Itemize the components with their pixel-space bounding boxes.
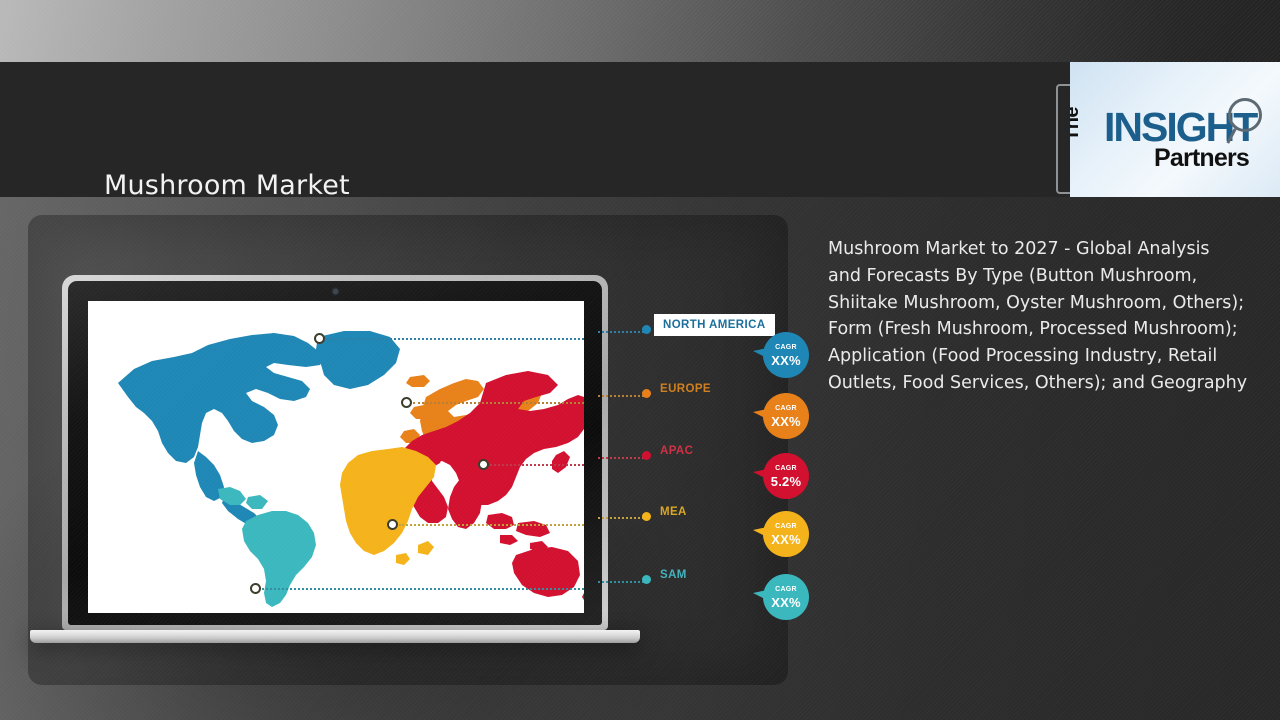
page-title: Mushroom Market (104, 172, 350, 199)
cagr-pin-value-europe: XX% (771, 415, 801, 428)
legend-row-sam[interactable]: SAM (640, 567, 840, 591)
map-marker-europe[interactable] (401, 397, 412, 408)
cagr-pin-text-europe: CAGR XX% (763, 393, 809, 439)
connector-line-apac (490, 464, 584, 466)
cagr-pin-metric-label-mea: CAGR (775, 523, 797, 530)
cagr-pin-sam[interactable]: CAGR XX% (753, 574, 809, 626)
cagr-pin-metric-label-north-america: CAGR (775, 344, 797, 351)
cagr-pin-text-mea: CAGR XX% (763, 511, 809, 557)
legend-bullet-sam (642, 575, 651, 584)
brand-logo[interactable]: The INSIGHT Partners (1070, 62, 1280, 202)
map-marker-sam[interactable] (250, 583, 261, 594)
logo-partners-text: Partners (1154, 144, 1249, 173)
legend-row-mea[interactable]: MEA (640, 504, 840, 528)
cagr-pin-mea[interactable]: CAGR XX% (753, 511, 809, 563)
cagr-pin-value-apac: 5.2% (771, 475, 801, 488)
cagr-pin-north-america[interactable]: CAGR XX% (753, 332, 809, 384)
legend-label-europe: EUROPE (660, 383, 711, 395)
world-map (88, 301, 584, 613)
cagr-pin-value-mea: XX% (771, 533, 801, 546)
cagr-pin-metric-label-sam: CAGR (775, 586, 797, 593)
legend-label-apac: APAC (660, 445, 693, 457)
laptop-mockup (62, 275, 612, 637)
laptop-bezel (68, 281, 602, 625)
laptop-lid (62, 275, 608, 630)
connector-line-sam (262, 588, 584, 590)
brand-logo-inner: The INSIGHT Partners (1082, 92, 1272, 178)
connector-line-mea (399, 524, 584, 526)
cagr-pin-apac[interactable]: CAGR 5.2% (753, 453, 809, 505)
logo-the-text: The (1070, 107, 1084, 141)
cagr-pin-value-north-america: XX% (771, 354, 801, 367)
map-marker-mea[interactable] (387, 519, 398, 530)
legend-row-apac[interactable]: APAC (640, 443, 840, 467)
laptop-screen (88, 301, 584, 613)
map-region-iceland (406, 375, 430, 387)
laptop-base (30, 630, 640, 643)
cagr-pin-metric-label-europe: CAGR (775, 405, 797, 412)
top-gradient-strip (0, 0, 1280, 62)
region-legend: NORTH AMERICA CAGR XX% EUROPE CAGR XX% A… (640, 197, 840, 617)
legend-bullet-mea (642, 512, 651, 521)
map-marker-north-america[interactable] (314, 333, 325, 344)
connector-line-europe (413, 402, 584, 404)
webcam-icon (333, 289, 338, 294)
legend-row-north-america[interactable]: NORTH AMERICA (640, 317, 840, 341)
map-marker-apac[interactable] (478, 459, 489, 470)
legend-label-mea: MEA (660, 506, 687, 518)
cagr-pin-text-north-america: CAGR XX% (763, 332, 809, 378)
cagr-pin-text-sam: CAGR XX% (763, 574, 809, 620)
magnifying-glass-icon (1228, 98, 1262, 132)
legend-row-europe[interactable]: EUROPE (640, 381, 840, 405)
cagr-pin-text-apac: CAGR 5.2% (763, 453, 809, 499)
connector-line-north-america (326, 338, 584, 340)
legend-label-sam: SAM (660, 569, 687, 581)
cagr-pin-value-sam: XX% (771, 596, 801, 609)
legend-bullet-apac (642, 451, 651, 460)
cagr-pin-europe[interactable]: CAGR XX% (753, 393, 809, 445)
report-description: Mushroom Market to 2027 - Global Analysi… (828, 236, 1248, 397)
cagr-pin-metric-label-apac: CAGR (775, 465, 797, 472)
legend-bullet-europe (642, 389, 651, 398)
legend-bullet-north-america (642, 325, 651, 334)
